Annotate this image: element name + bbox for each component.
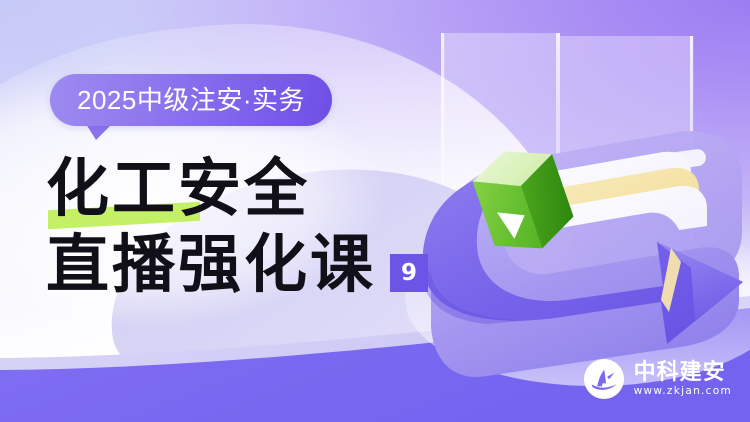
episode-badge: 9 <box>390 254 428 292</box>
headline-row-2: 直播强化课 9 <box>46 226 428 302</box>
headline-block: 化工安全 直播强化课 9 <box>46 150 428 302</box>
headline-row-1: 化工安全 <box>46 150 428 226</box>
headline-line-1: 化工安全 <box>46 150 310 226</box>
brand-name: 中科建安 <box>634 362 732 384</box>
badge-label: 2025中级注安·实务 <box>77 87 305 113</box>
zkjan-emblem-icon <box>583 358 625 400</box>
brand-url: www.zkjan.com <box>634 386 732 397</box>
brand-logo[interactable]: 中科建安 www.zkjan.com <box>583 358 732 400</box>
course-category-badge: 2025中级注安·实务 <box>50 74 332 126</box>
course-banner: 2025中级注安·实务 化工安全 直播强化课 9 中科建安 www.zkjan.… <box>0 0 750 422</box>
episode-number: 9 <box>401 262 417 285</box>
badge-tail-icon <box>86 124 112 140</box>
logo-text-group: 中科建安 www.zkjan.com <box>634 362 732 397</box>
headline-line-2: 直播强化课 <box>46 226 376 302</box>
